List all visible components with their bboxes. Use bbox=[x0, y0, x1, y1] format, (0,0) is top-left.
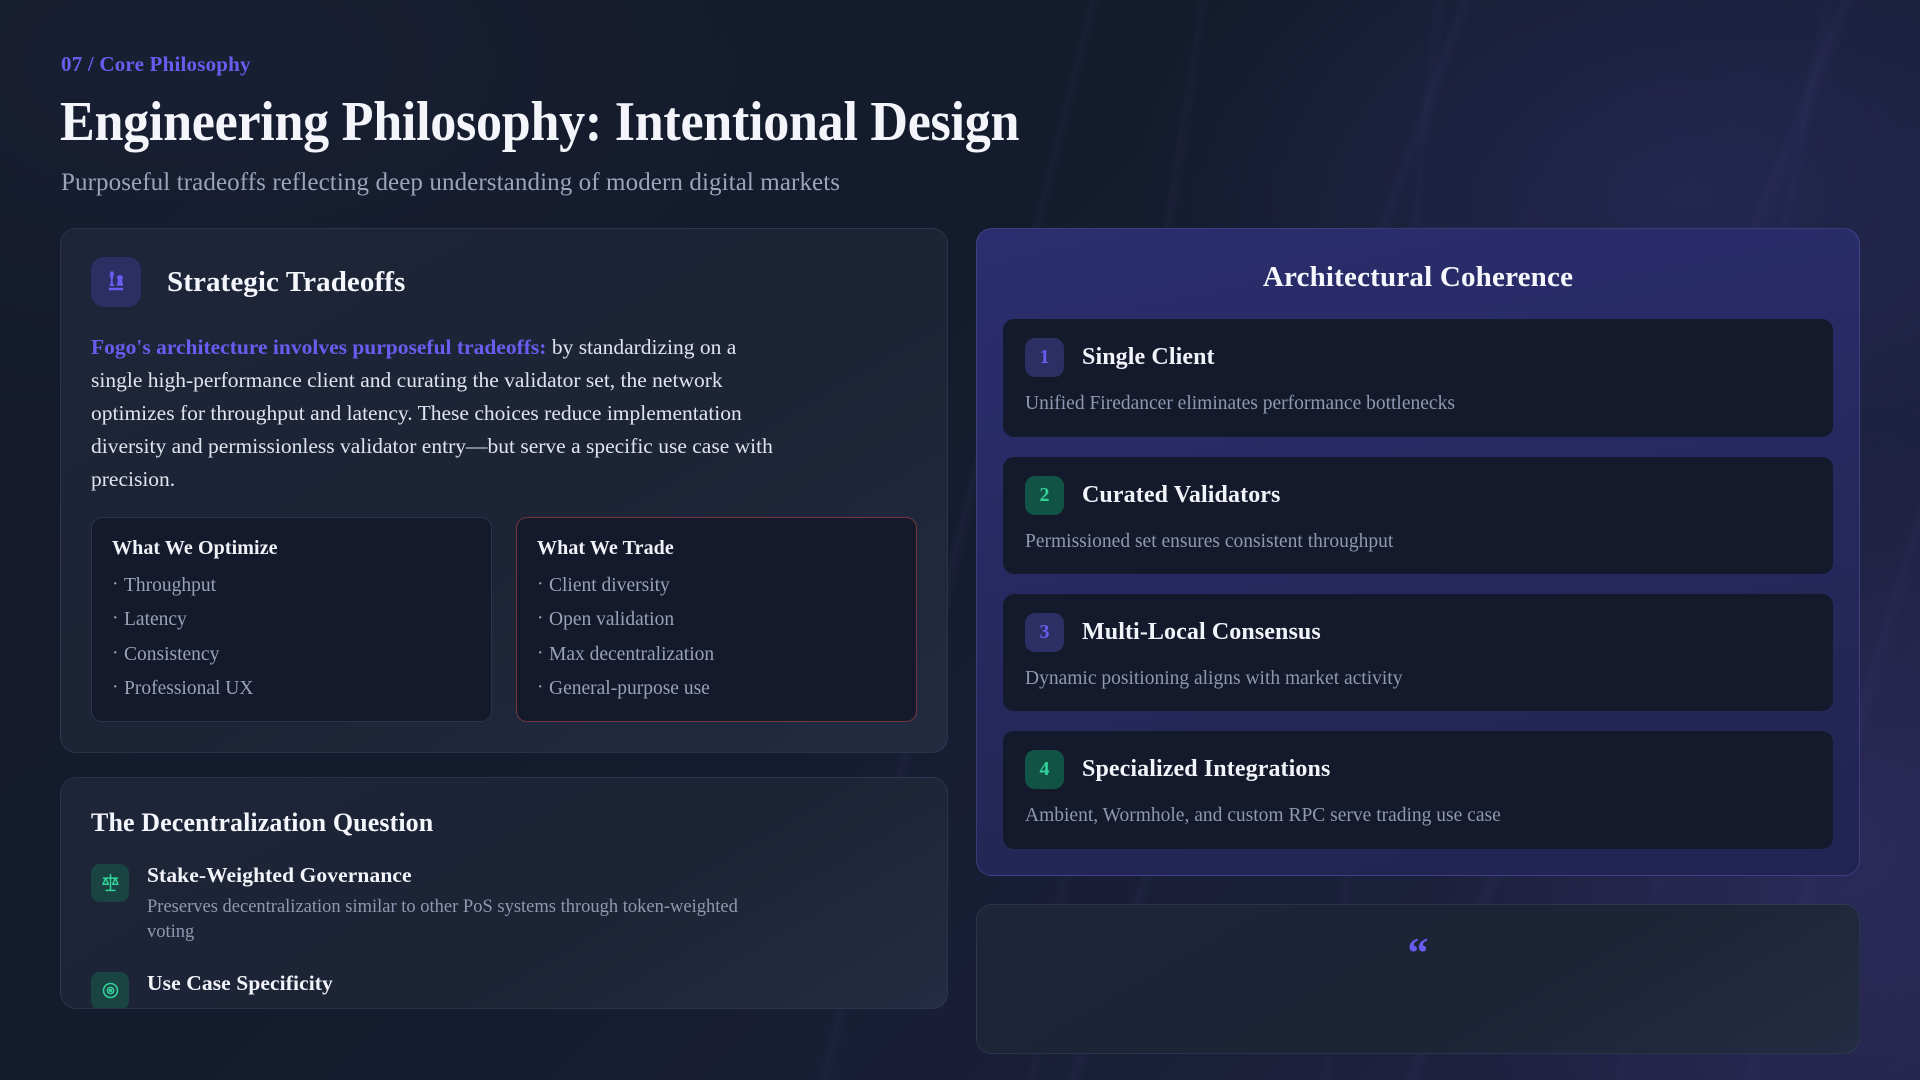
list-item-header: 2 Curated Validators bbox=[1025, 476, 1811, 515]
list-item: Latency bbox=[112, 610, 471, 630]
list-item-desc: Ambient, Wormhole, and custom RPC serve … bbox=[1025, 803, 1811, 828]
card-header: Strategic Tradeoffs bbox=[91, 257, 917, 307]
breadcrumb-separator: / bbox=[88, 52, 94, 76]
list-item-title: Use Case Specificity bbox=[147, 971, 333, 996]
what-we-optimize-list: Throughput Latency Consistency Professio… bbox=[112, 576, 471, 699]
content-grid: Strategic Tradeoffs Fogo's architecture … bbox=[60, 228, 1860, 1053]
what-we-trade-list: Client diversity Open validation Max dec… bbox=[537, 576, 896, 699]
list-item-desc: Dynamic positioning aligns with market a… bbox=[1025, 666, 1811, 691]
list-item: 2 Curated Validators Permissioned set en… bbox=[1003, 457, 1833, 574]
list-item-title: Curated Validators bbox=[1082, 482, 1281, 509]
list-item: Professional UX bbox=[112, 679, 471, 699]
list-item: General-purpose use bbox=[537, 679, 896, 699]
what-we-optimize-box: What We Optimize Throughput Latency Cons… bbox=[91, 517, 492, 722]
what-we-trade-box: What We Trade Client diversity Open vali… bbox=[516, 517, 917, 722]
what-we-optimize-title: What We Optimize bbox=[112, 537, 471, 560]
target-icon bbox=[91, 972, 129, 1009]
list-item-desc: Preserves decentralization similar to ot… bbox=[147, 895, 769, 946]
decentralization-title: The Decentralization Question bbox=[91, 808, 917, 838]
step-number-badge: 1 bbox=[1025, 338, 1064, 377]
coherence-title: Architectural Coherence bbox=[1003, 261, 1833, 294]
step-number-badge: 2 bbox=[1025, 476, 1064, 515]
slide-root: 07 / Core Philosophy Engineering Philoso… bbox=[0, 0, 1920, 1080]
list-item: Client diversity bbox=[537, 576, 896, 596]
coherence-list: 1 Single Client Unified Firedancer elimi… bbox=[1003, 319, 1833, 848]
page-title: Engineering Philosophy: Intentional Desi… bbox=[60, 93, 1790, 152]
step-number-badge: 4 bbox=[1025, 750, 1064, 789]
breadcrumb-label: Core Philosophy bbox=[99, 52, 250, 76]
page-subtitle: Purposeful tradeoffs reflecting deep und… bbox=[61, 169, 1920, 197]
list-item-header: 4 Specialized Integrations bbox=[1025, 750, 1811, 789]
tradeoff-boxes: What We Optimize Throughput Latency Cons… bbox=[91, 517, 917, 722]
what-we-trade-title: What We Trade bbox=[537, 537, 896, 560]
list-item-text: Use Case Specificity bbox=[147, 970, 333, 1009]
list-item-title: Specialized Integrations bbox=[1082, 756, 1330, 783]
list-item-text: Stake-Weighted Governance Preserves dece… bbox=[147, 862, 769, 946]
tradeoffs-body: Fogo's architecture involves purposeful … bbox=[91, 331, 791, 495]
list-item-desc: Unified Firedancer eliminates performanc… bbox=[1025, 391, 1811, 416]
chess-pieces-icon bbox=[91, 257, 141, 307]
list-item-header: 3 Multi-Local Consensus bbox=[1025, 613, 1811, 652]
list-item-header: 1 Single Client bbox=[1025, 338, 1811, 377]
right-column: Architectural Coherence 1 Single Client … bbox=[976, 228, 1860, 1053]
list-item: Consistency bbox=[112, 645, 471, 665]
list-item: 1 Single Client Unified Firedancer elimi… bbox=[1003, 319, 1833, 436]
list-item: 3 Multi-Local Consensus Dynamic position… bbox=[1003, 594, 1833, 711]
left-column: Strategic Tradeoffs Fogo's architecture … bbox=[60, 228, 948, 1008]
architectural-coherence-panel: Architectural Coherence 1 Single Client … bbox=[976, 228, 1860, 875]
card-title: Strategic Tradeoffs bbox=[167, 266, 405, 299]
list-item: Use Case Specificity bbox=[91, 970, 917, 1009]
list-item: Throughput bbox=[112, 576, 471, 596]
list-item: 4 Specialized Integrations Ambient, Worm… bbox=[1003, 731, 1833, 848]
breadcrumb-number: 07 bbox=[61, 52, 82, 76]
strategic-tradeoffs-card: Strategic Tradeoffs Fogo's architecture … bbox=[60, 228, 948, 752]
list-item-title: Stake-Weighted Governance bbox=[147, 863, 769, 888]
scales-balance-icon bbox=[91, 864, 129, 902]
list-item: Open validation bbox=[537, 610, 896, 630]
list-item-desc: Permissioned set ensures consistent thro… bbox=[1025, 529, 1811, 554]
breadcrumb: 07 / Core Philosophy bbox=[61, 52, 1920, 77]
decentralization-question-card: The Decentralization Question Stake-Weig… bbox=[60, 777, 948, 1009]
quote-card: “ bbox=[976, 904, 1860, 1054]
list-item-title: Single Client bbox=[1082, 344, 1215, 371]
list-item: Stake-Weighted Governance Preserves dece… bbox=[91, 862, 917, 946]
list-item-title: Multi-Local Consensus bbox=[1082, 619, 1321, 646]
step-number-badge: 3 bbox=[1025, 613, 1064, 652]
tradeoffs-lead: Fogo's architecture involves purposeful … bbox=[91, 335, 546, 359]
list-item: Max decentralization bbox=[537, 645, 896, 665]
quote-mark-icon: “ bbox=[1007, 933, 1829, 975]
